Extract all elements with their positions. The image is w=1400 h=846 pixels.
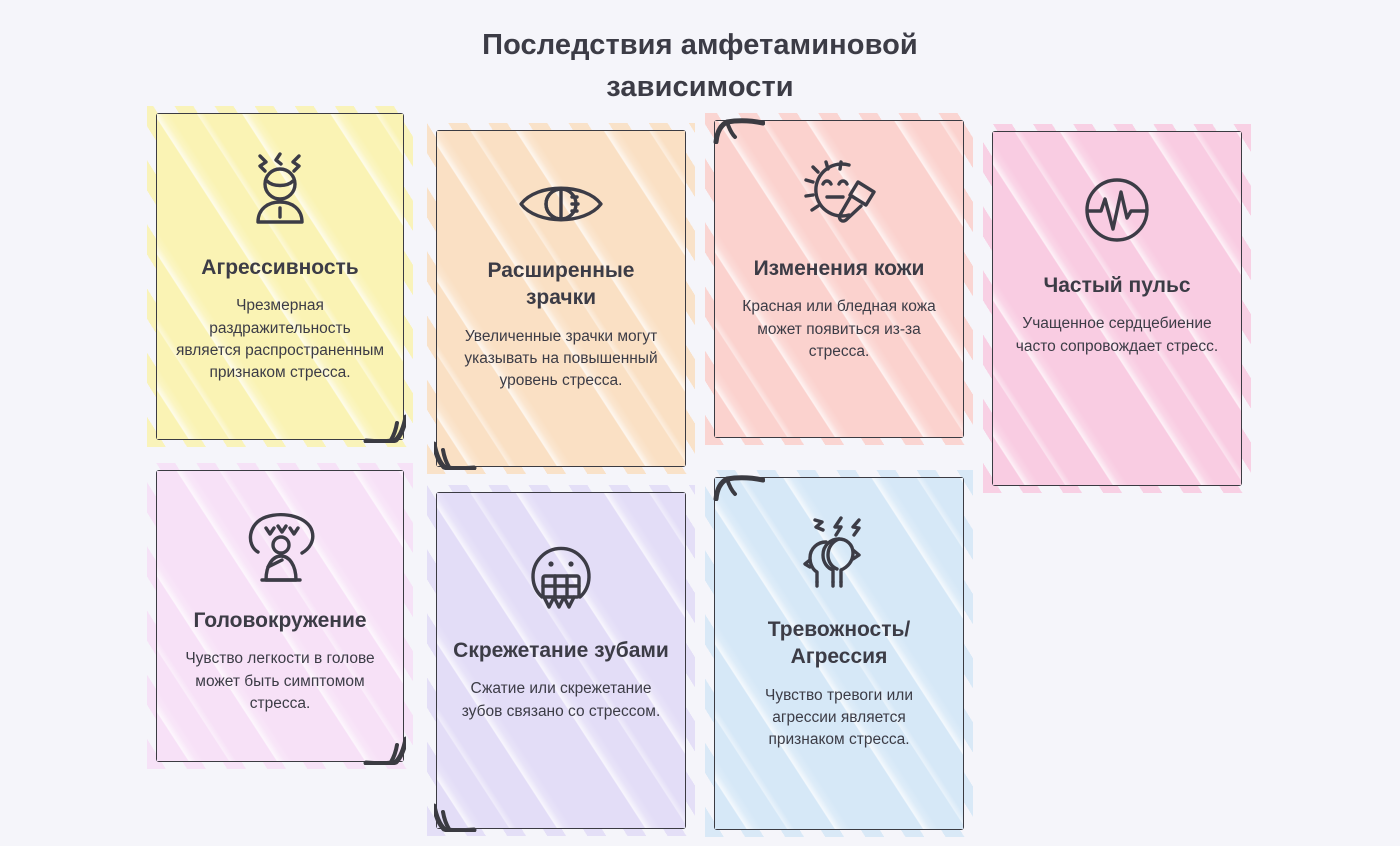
- card-title: Изменения кожи: [744, 255, 935, 282]
- card-description: Сжатие или скрежетание зубов связано со …: [441, 678, 681, 723]
- dizzy-person-birds-icon: [236, 507, 324, 585]
- card-dilated-pupils[interactable]: Расширенные зрачки Увеличенные зрачки мо…: [436, 130, 686, 467]
- card-rapid-pulse[interactable]: Частый пульс Учащенное сердцебиение част…: [992, 131, 1242, 486]
- card-dizziness[interactable]: Головокружение Чувство легкости в голове…: [156, 470, 404, 762]
- angry-person-icon: [238, 148, 322, 232]
- card-description: Чувство легкости в голове может быть сим…: [161, 648, 399, 715]
- card-title: Агрессивность: [191, 254, 368, 281]
- grinding-teeth-face-icon: [520, 535, 602, 615]
- card-title: Частый пульс: [1033, 272, 1200, 299]
- card-description: Учащенное сердцебиение часто сопровождае…: [997, 313, 1237, 358]
- page-title-line-1: Последствия амфетаминовой: [0, 25, 1400, 66]
- page-title-line-2: зависимости: [0, 67, 1400, 108]
- card-anxiety-aggression[interactable]: Тревожность/ Агрессия Чувство тревоги ил…: [714, 477, 964, 830]
- card-title: Расширенные зрачки: [441, 257, 681, 312]
- card-title: Скрежетание зубами: [443, 637, 679, 664]
- card-description: Красная или бледная кожа может появиться…: [719, 296, 959, 363]
- card-description: Увеличенные зрачки могут указывать на по…: [441, 326, 681, 393]
- card-description: Чувство тревоги или агрессии является пр…: [719, 685, 959, 752]
- card-description: Чрезмерная раздражительность является ра…: [161, 295, 399, 384]
- card-aggression[interactable]: Агрессивность Чрезмерная раздражительнос…: [156, 113, 404, 440]
- dilated-eye-icon: [515, 173, 607, 235]
- card-teeth-grinding[interactable]: Скрежетание зубами Сжатие или скрежетани…: [436, 492, 686, 829]
- card-title: Головокружение: [183, 607, 376, 634]
- card-title: Тревожность/ Агрессия: [719, 616, 959, 671]
- face-makeup-brush-icon: [795, 153, 883, 233]
- two-heads-lightning-icon: [797, 514, 881, 594]
- heart-pulse-circle-icon: [1077, 170, 1157, 250]
- page-title: Последствия амфетаминовой зависимости: [0, 25, 1400, 107]
- card-skin-changes[interactable]: Изменения кожи Красная или бледная кожа …: [714, 120, 964, 438]
